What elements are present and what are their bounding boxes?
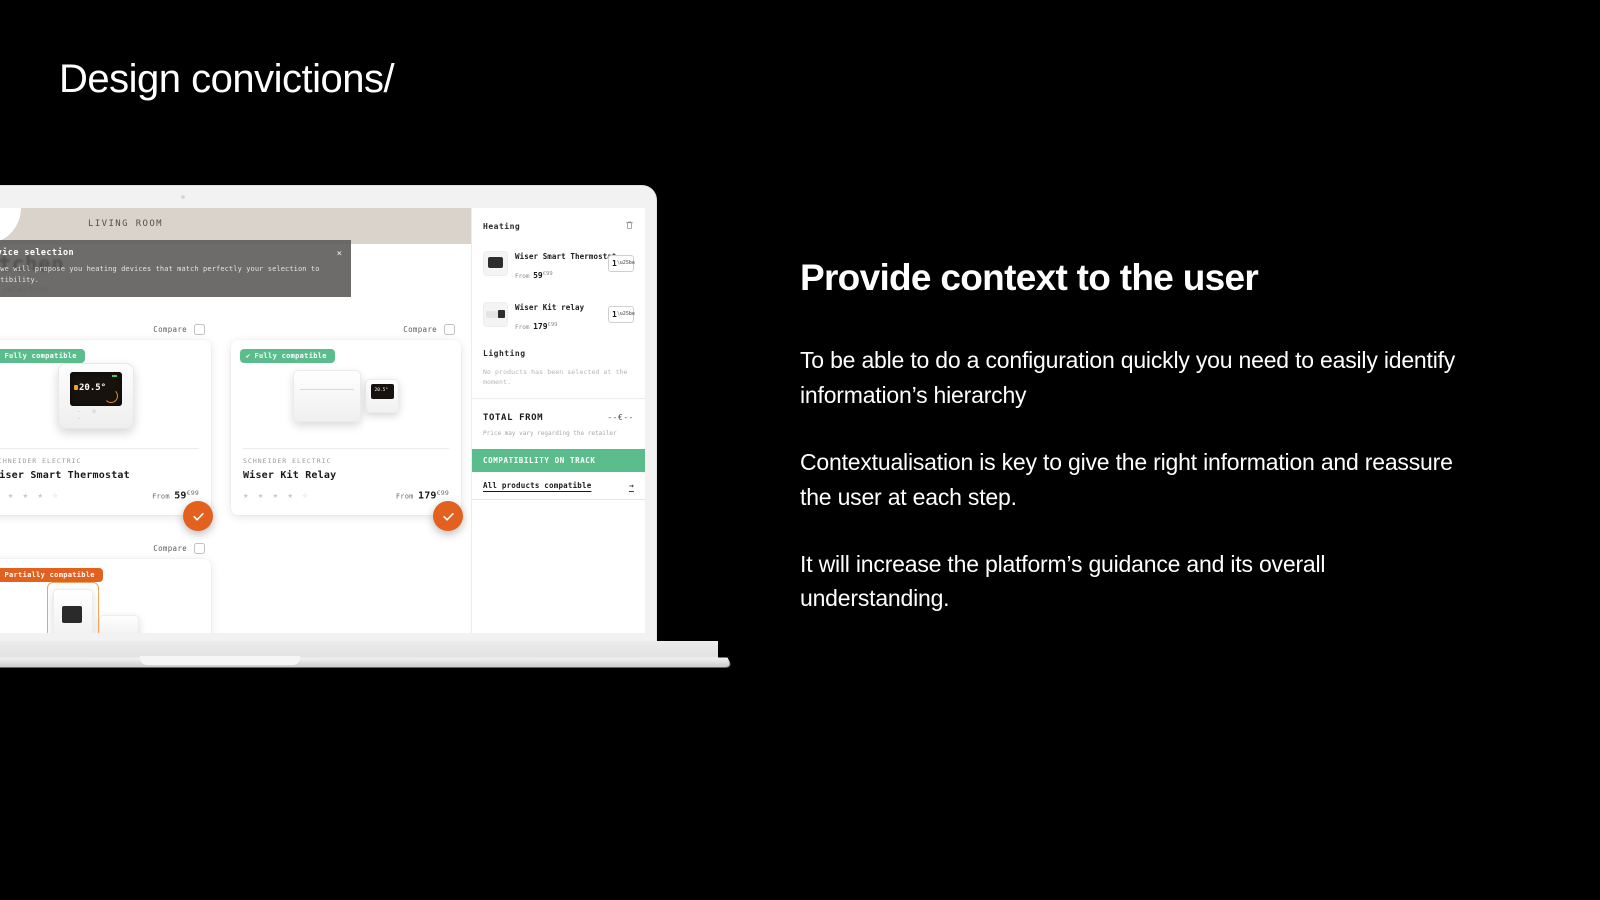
tab-living-room-label[interactable]: LIVING ROOM [88, 219, 163, 229]
laptop-lid: KITCHEN LIVING ROOM Heatingfor your kitc… [0, 186, 656, 653]
check-icon [192, 510, 205, 523]
price-integer: 59 [174, 490, 186, 501]
valve-unit-icon [53, 589, 93, 633]
price-prefix: From [396, 492, 414, 500]
badge-label: Partially compatible [5, 571, 95, 579]
price-cents: 99 [441, 489, 449, 497]
badge-label: Fully compatible [255, 352, 327, 360]
product-name: Wiser Smart Thermostat [0, 470, 199, 481]
product-grid: Compare ✔Fully compatible ECO [0, 318, 471, 633]
compatibility-link-label: All products compatible [483, 481, 591, 490]
price-integer: 179 [418, 490, 437, 501]
plug-icon: ✔ [246, 352, 251, 360]
total-row: TOTAL FROM --€-- [483, 413, 634, 423]
wiser-thermostat-image: 20.5° - o - [58, 363, 134, 429]
product-card[interactable]: ✔Fully compatible SCHNEIDER ELECTRIC [231, 340, 461, 515]
sidebar-item[interactable]: Wiser Smart Thermostat From 59€99 1 \u25… [483, 244, 634, 282]
copy-paragraph-1: To be able to do a configuration quickly… [800, 343, 1460, 413]
price-prefix: From [152, 492, 170, 500]
price-integer: 179 [533, 322, 547, 331]
plug-icon: ✔ [0, 352, 1, 360]
copy-column: Provide context to the user To be able t… [800, 258, 1460, 616]
check-icon [442, 510, 455, 523]
total-label: TOTAL FROM [483, 413, 543, 423]
product-card[interactable]: ✔Partially compatible [0, 559, 211, 633]
compare-label: Compare [153, 325, 187, 334]
laptop-screen: KITCHEN LIVING ROOM Heatingfor your kitc… [0, 208, 645, 633]
relay-unit-icon [293, 370, 361, 422]
selected-button[interactable] [183, 501, 213, 531]
product-cell-2: Compare ✔Fully compatible [0, 318, 221, 515]
price-cents: 99 [546, 271, 553, 277]
card-divider [243, 448, 449, 449]
product-thumbnail [483, 251, 508, 276]
total-section: TOTAL FROM --€-- Price may vary regardin… [472, 399, 645, 449]
amber-indicator-icon [74, 385, 78, 390]
total-note: Price may vary regarding the retailer [483, 430, 634, 437]
slide-title: Design convictions/ [59, 57, 394, 102]
product-cell-3: Compare ✔Fully compatible [221, 318, 471, 515]
price-integer: 59 [533, 271, 543, 280]
product-image [243, 350, 449, 442]
chevron-down-icon: \u25be [617, 311, 635, 317]
sidebar-item-name: Wiser Smart Thermostat [515, 252, 617, 261]
copy-paragraph-2: Contextualisation is key to give the rig… [800, 445, 1460, 515]
webcam-icon [181, 195, 185, 199]
tooltip-body: For the next rooms, we will propose you … [0, 264, 339, 286]
compare-label: Compare [403, 325, 437, 334]
price-cents: 99 [551, 322, 558, 328]
laptop-mockup: KITCHEN LIVING ROOM Heatingfor your kitc… [0, 186, 730, 686]
copy-heading: Provide context to the user [800, 258, 1460, 299]
tooltip-title: Your heating device selection [0, 248, 339, 258]
delete-icon[interactable] [625, 220, 634, 233]
plug-icon: ✔ [0, 571, 1, 579]
sidebar-item-info: Wiser Smart Thermostat From 59€99 [515, 244, 601, 282]
context-tooltip: Your heating device selection For the ne… [0, 240, 351, 297]
rating-price-row: ★ ★ ★ ★ ☆ From 59€99 [0, 489, 199, 501]
compatibility-badge: ✔Fully compatible [240, 349, 335, 363]
laptop-base-front [0, 657, 733, 667]
compatibility-badge: ✔Fully compatible [0, 349, 85, 363]
compatibility-banner: COMPATIBILITY ON TRACK [472, 449, 645, 472]
selected-button[interactable] [433, 501, 463, 531]
product-price: From 179€99 [396, 489, 449, 501]
price-cents: 99 [191, 489, 199, 497]
configurator-app: KITCHEN LIVING ROOM Heatingfor your kitc… [0, 208, 645, 633]
sidebar-item-name: Wiser Kit relay [515, 303, 584, 312]
product-name: Wiser Kit Relay [243, 470, 449, 481]
product-thumbnail [483, 302, 508, 327]
copy-paragraph-3: It will increase the platform’s guidance… [800, 547, 1460, 617]
product-brand: SCHNEIDER ELECTRIC [243, 457, 449, 465]
compare-checkbox[interactable] [444, 324, 455, 335]
wiser-relay-image [293, 370, 399, 422]
relay-thermostat-icon [365, 379, 399, 413]
sidebar-heating-title: Heating [483, 222, 520, 231]
sidebar-item-price: From 179€99 [515, 324, 557, 331]
rating-stars: ★ ★ ★ ★ ☆ [243, 491, 310, 501]
sidebar-lighting-empty: No products has been selected at the mom… [483, 368, 634, 388]
device-screen: 20.5° [70, 372, 122, 406]
price-prefix: From [515, 273, 529, 280]
product-brand: SCHNEIDER ELECTRIC [0, 457, 199, 465]
product-cell-5: Compare ✔Partially compatible [0, 537, 221, 633]
sidebar-heating-header: Heating [483, 220, 634, 233]
product-card[interactable]: ✔Fully compatible 20.5° [0, 340, 211, 515]
chevron-down-icon: \u25be [617, 260, 635, 266]
compare-row-5: Compare [0, 537, 211, 559]
compare-row-2: Compare [0, 318, 211, 340]
selection-sidebar: Heating Wiser Smart Thermostat From [471, 208, 645, 633]
product-price: From 59€99 [152, 489, 199, 501]
status-led-icon [112, 375, 117, 377]
close-icon[interactable]: × [337, 249, 342, 259]
valve-kit-image [53, 589, 139, 633]
sidebar-item-price: From 59€99 [515, 273, 553, 280]
sidebar-item[interactable]: Wiser Kit relay From 179€99 1 \u25be [483, 295, 634, 333]
product-row-2: Compare ✔Partially compatible [0, 537, 471, 633]
card-divider [0, 448, 199, 449]
all-products-compatible-link[interactable]: All products compatible → [472, 472, 645, 500]
laptop-notch [140, 656, 300, 665]
tab-kitchen[interactable] [0, 208, 21, 244]
device-temperature: 20.5° [79, 383, 106, 393]
sidebar-heating-section: Heating Wiser Smart Thermostat From [472, 208, 645, 396]
product-row-1: Compare ✔Fully compatible ECO [0, 318, 471, 515]
compare-checkbox[interactable] [194, 543, 205, 554]
relay-box-icon [99, 615, 139, 633]
compare-checkbox[interactable] [194, 324, 205, 335]
price-prefix: From [515, 324, 529, 331]
compare-row-3: Compare [231, 318, 461, 340]
badge-label: Fully compatible [5, 352, 77, 360]
total-value: --€-- [607, 413, 634, 422]
device-buttons-icon: - o - [77, 408, 115, 422]
sidebar-lighting-title: Lighting [483, 349, 634, 358]
rating-price-row: ★ ★ ★ ★ ☆ From 179€99 [243, 489, 449, 501]
compare-label: Compare [153, 544, 187, 553]
arrow-right-icon: → [629, 481, 634, 490]
product-cell-6 [221, 537, 471, 633]
quantity-select[interactable]: 1 \u25be [608, 306, 634, 323]
compatibility-badge: ✔Partially compatible [0, 568, 103, 582]
quantity-select[interactable]: 1 \u25be [608, 255, 634, 272]
sidebar-item-info: Wiser Kit relay From 179€99 [515, 295, 601, 333]
dial-arc-icon [104, 389, 118, 403]
rating-stars: ★ ★ ★ ★ ☆ [0, 491, 60, 501]
product-image: 20.5° - o - [0, 350, 199, 442]
